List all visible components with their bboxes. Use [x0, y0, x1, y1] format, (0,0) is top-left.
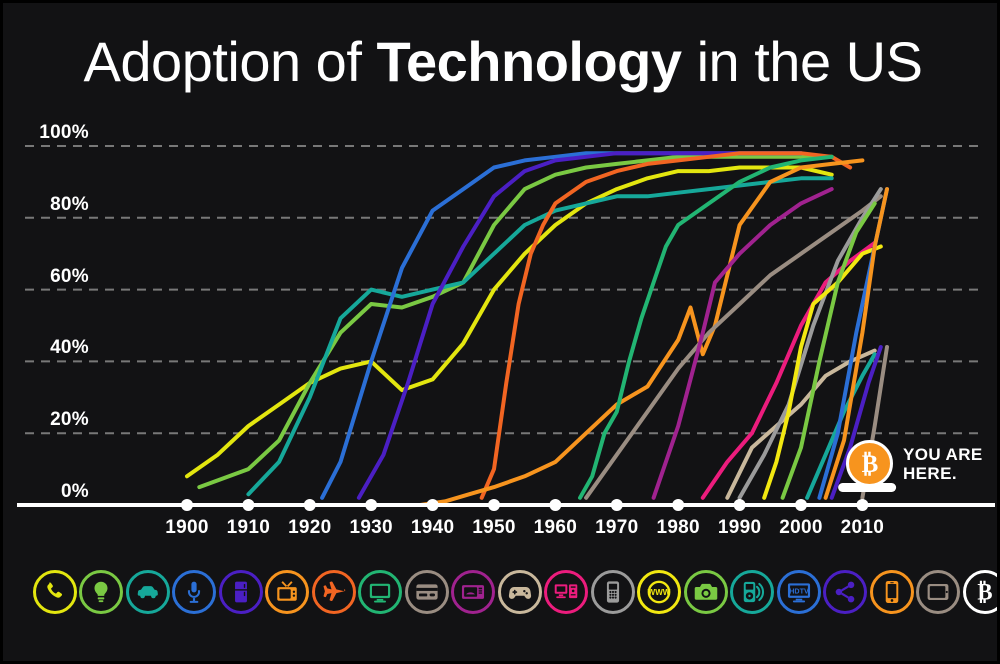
airplane-icon[interactable]: [312, 570, 356, 614]
title-part-2: in the US: [682, 30, 923, 93]
page-title: Adoption of Technology in the US: [3, 31, 1000, 93]
credit-card-icon[interactable]: [405, 570, 449, 614]
refrigerator-icon[interactable]: [219, 570, 263, 614]
www-icon[interactable]: WWW: [637, 570, 681, 614]
share-icon[interactable]: [823, 570, 867, 614]
microphone-icon[interactable]: [172, 570, 216, 614]
microwave-icon[interactable]: [451, 570, 495, 614]
title-emphasis: Technology: [376, 30, 681, 93]
y-tick-label: 60%: [3, 266, 89, 288]
computer-icon[interactable]: [544, 570, 588, 614]
car-icon[interactable]: [126, 570, 170, 614]
technology-icon-legend: WWWHDTV₿: [33, 561, 983, 623]
cellphone-icon[interactable]: [591, 570, 635, 614]
svg-text:₿: ₿: [977, 580, 992, 605]
you-are-here-label: YOU ARE HERE.: [903, 445, 983, 483]
x-tick-label: 2010: [822, 517, 902, 539]
telephone-icon[interactable]: [33, 570, 77, 614]
svg-text:HDTV: HDTV: [789, 587, 809, 595]
y-tick-label: 80%: [3, 194, 89, 216]
y-tick-label: 40%: [3, 337, 89, 359]
television-icon[interactable]: [265, 570, 309, 614]
mp3-player-icon[interactable]: [730, 570, 774, 614]
y-tick-label: 100%: [3, 122, 89, 144]
lightbulb-icon[interactable]: [79, 570, 123, 614]
tablet-icon[interactable]: [916, 570, 960, 614]
infographic-poster: Adoption of Technology in the US 0%20%40…: [0, 0, 1000, 664]
y-tick-label: 0%: [3, 481, 89, 503]
game-controller-icon[interactable]: [498, 570, 542, 614]
svg-text:₿: ₿: [861, 451, 878, 478]
y-tick-label: 20%: [3, 409, 89, 431]
color-tv-icon[interactable]: [358, 570, 402, 614]
bitcoin-icon: ₿: [846, 440, 893, 487]
bitcoin-icon[interactable]: ₿: [963, 570, 1000, 614]
title-part-1: Adoption of: [84, 30, 377, 93]
you-are-here-annotation: ₿ YOU ARE HERE.: [846, 440, 983, 487]
svg-text:WWW: WWW: [648, 588, 671, 597]
hdtv-icon[interactable]: HDTV: [777, 570, 821, 614]
smartphone-icon[interactable]: [870, 570, 914, 614]
camera-icon[interactable]: [684, 570, 728, 614]
